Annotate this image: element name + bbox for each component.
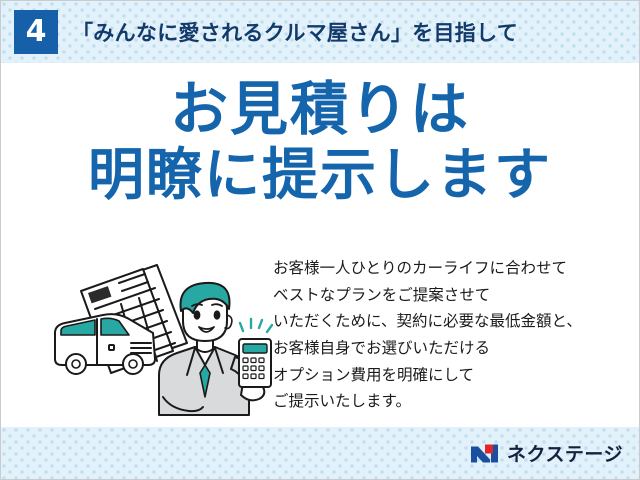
main-content: お見積りは 明瞭に提示します お客様一人ひとりのカーライフに合わせて ベストなプ… (1, 63, 639, 427)
calculator-icon (239, 339, 271, 387)
advertisement-banner: 4 「みんなに愛されるクルマ屋さん」を目指して お見積りは 明瞭に提示します お… (0, 0, 640, 480)
body-copy-line-1: お客様一人ひとりのカーライフに合わせて (273, 255, 582, 282)
footer-band: ネクステージ (1, 427, 639, 479)
sparkle-icon (240, 319, 272, 332)
header-title: 「みんなに愛されるクルマ屋さん」を目指して (72, 17, 518, 47)
body-copy-line-4: お客様自身でお選びいただける (273, 335, 582, 362)
header-band: 4 「みんなに愛されるクルマ屋さん」を目指して (1, 1, 639, 63)
headline-line-2: 明瞭に提示します (1, 143, 639, 209)
body-copy-line-2: ベストなプランをご提案させて (273, 282, 582, 309)
headline: お見積りは 明瞭に提示します (1, 75, 639, 210)
header-content: 4 「みんなに愛されるクルマ屋さん」を目指して (1, 1, 639, 63)
body-copy-line-3: いただくために、契約に必要な最低金額と、 (273, 308, 582, 335)
brand-name: ネクステージ (507, 440, 623, 467)
section-number-badge: 4 (14, 10, 58, 54)
body-copy-line-6: ご提示いたします。 (273, 388, 582, 415)
illustration (47, 247, 275, 423)
nextage-n-mark-icon (470, 442, 500, 464)
headline-line-1: お見積りは (1, 75, 639, 143)
brand-logo: ネクステージ (470, 440, 623, 467)
body-copy-line-5: オプション費用を明確にして (273, 362, 582, 389)
body-copy: お客様一人ひとりのカーライフに合わせて ベストなプランをご提案させて いただくた… (273, 255, 582, 415)
